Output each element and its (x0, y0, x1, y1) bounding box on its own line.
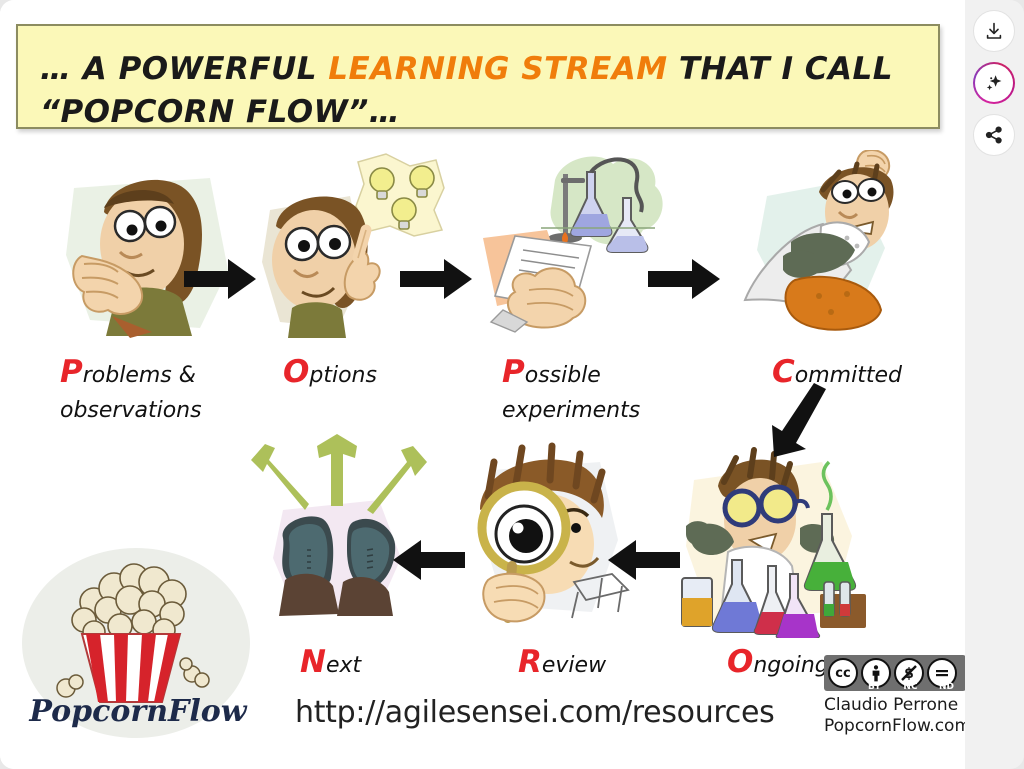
stage-label-options: Options (283, 350, 377, 395)
stage-label-ongoing: Ongoing (727, 640, 829, 685)
stage-cap-next: N (300, 644, 326, 680)
banner-line-1: … A POWERFUL LEARNING STREAM THAT I CALL (40, 51, 893, 87)
ai-enhance-button[interactable] (973, 62, 1015, 104)
next-arrow-left (251, 444, 309, 510)
stage-cap-problems: P (60, 354, 83, 390)
stage-rest-options: ptions (309, 363, 377, 388)
stage-cap-ongoing: O (727, 644, 753, 680)
stage-label-next: Next (300, 640, 361, 685)
resources-url: http://agilesensei.com/resources (295, 695, 774, 730)
share-icon (984, 125, 1004, 145)
stage-rest-review: eview (542, 653, 606, 678)
next-arrow-up (317, 434, 357, 506)
logo-wordmark: PopcornFlow (28, 694, 248, 729)
cc-icon: cc (828, 658, 858, 688)
arrow-options-to-possible (400, 257, 472, 301)
stage-rest-ongoing: ngoing (753, 653, 828, 678)
share-button[interactable] (973, 114, 1015, 156)
download-button[interactable] (973, 10, 1015, 52)
stage-label-committed: Committed (772, 350, 902, 395)
banner-line1-pre: … A POWERFUL (40, 51, 328, 87)
illustration-person-with-lightbulbs (258, 152, 448, 340)
stage-label-possible: Possible experiments (502, 350, 640, 427)
screenshot-root: … A POWERFUL LEARNING STREAM THAT I CALL… (0, 0, 1024, 769)
arrow-possible-to-committed (648, 257, 720, 301)
sparkle-icon (984, 73, 1004, 93)
banner-line1-post: THAT I CALL (668, 51, 893, 87)
image-actions-toolbar (965, 0, 1024, 769)
stage-rest-committed: ommitted (795, 363, 902, 388)
illustration-hand-holding-experiment-sheet (455, 150, 670, 345)
banner-highlight: LEARNING STREAM (328, 51, 667, 87)
author-credit: Claudio Perrone PopcornFlow.com (824, 695, 972, 738)
cc-label-nd: ND (930, 682, 963, 692)
popcornflow-logo: PopcornFlow (22, 548, 250, 748)
stage-cap-possible: P (502, 354, 525, 390)
slide-title-banner: … A POWERFUL LEARNING STREAM THAT I CALL… (16, 24, 940, 129)
creative-commons-badge: cc $ BY NC ND (824, 655, 966, 691)
popcornflow-slide: … A POWERFUL LEARNING STREAM THAT I CALL… (0, 0, 965, 769)
stage-cap-committed: C (772, 354, 795, 390)
illustration-shoes-with-arrows (243, 432, 438, 637)
cc-label-by: BY (858, 682, 891, 692)
illustration-scientist-with-flasks (672, 442, 872, 638)
arrow-problems-to-options (184, 257, 256, 301)
arrow-ongoing-to-review (608, 538, 680, 582)
arrow-review-to-next (393, 538, 465, 582)
stage-cap-review: R (518, 644, 542, 680)
stage-label-problems: Problems & observations (60, 350, 202, 427)
stage-label-review: Review (518, 640, 606, 685)
illustration-thinking-person (60, 160, 245, 340)
cc-label-row: BY NC ND (858, 682, 963, 692)
illustration-hero-scientist-fist-raised (735, 150, 935, 345)
stage-rest-next: ext (326, 653, 361, 678)
banner-line-2: “POPCORN FLOW”… (40, 94, 400, 130)
stage-cap-options: O (283, 354, 309, 390)
cc-label-nc: NC (894, 682, 927, 692)
next-arrow-right (367, 446, 427, 514)
popcorn-bucket-icon (22, 552, 250, 712)
image-viewer-card: … A POWERFUL LEARNING STREAM THAT I CALL… (0, 0, 1005, 769)
license-block: cc $ BY NC ND Claudio Perrone PopcornFlo… (824, 655, 972, 738)
download-icon (984, 21, 1004, 41)
